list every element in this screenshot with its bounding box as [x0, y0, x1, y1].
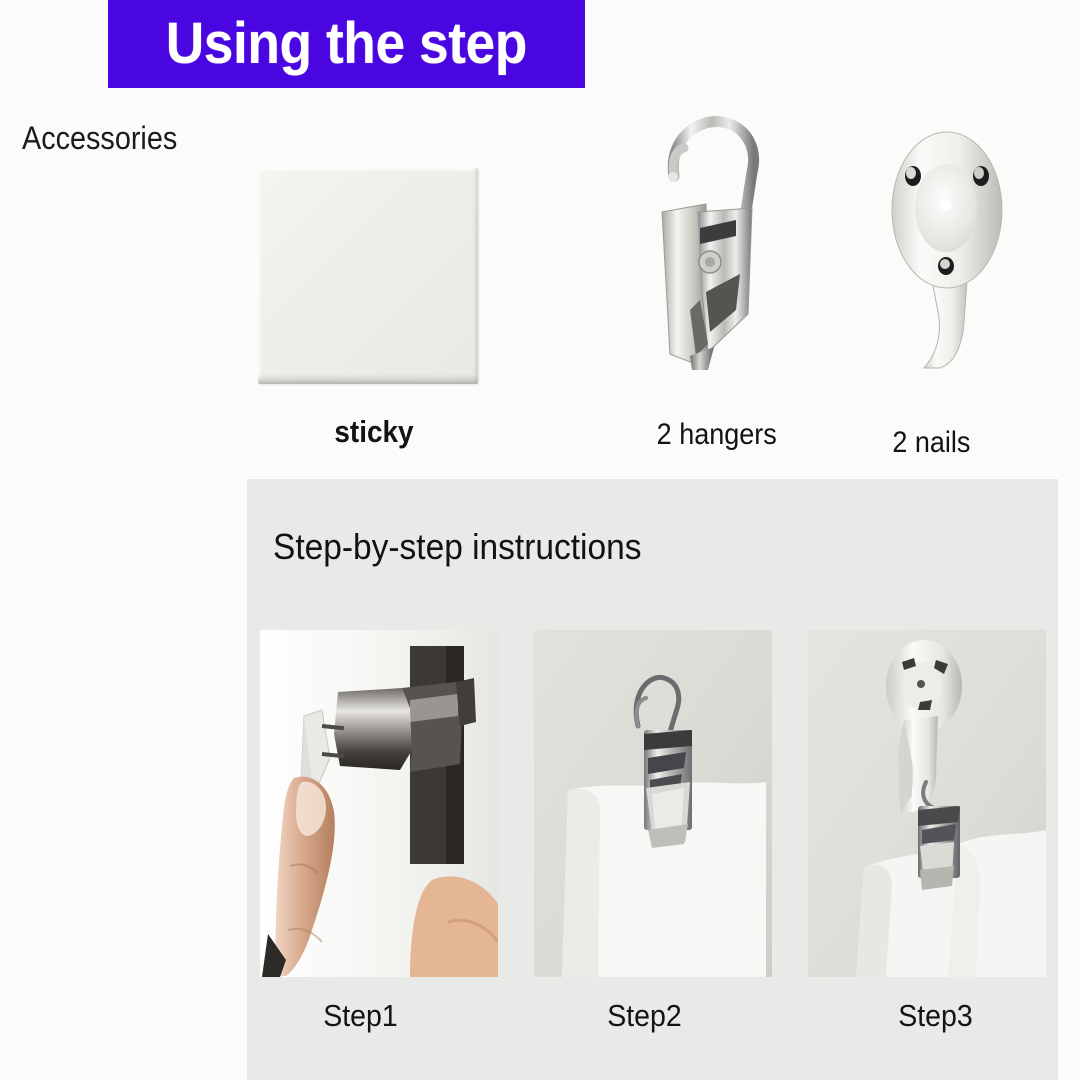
step-image-2 — [534, 630, 772, 977]
product-instruction-infographic: Using the step Accessories — [0, 0, 1080, 1080]
step-caption-3: Step3 — [898, 998, 973, 1034]
adhesive-pad-icon — [258, 168, 478, 384]
wall-hook-icon — [880, 126, 1016, 388]
step-by-step-panel: Step-by-step instructions — [247, 479, 1058, 1080]
step-image-3 — [808, 630, 1046, 977]
accessories-section-label: Accessories — [22, 120, 177, 157]
hook-clip-icon — [640, 104, 810, 386]
step-image-row — [260, 630, 1046, 977]
step-image-1 — [260, 630, 498, 977]
accessory-caption-hangers: 2 hangers — [657, 418, 777, 452]
step-caption-2: Step2 — [607, 998, 682, 1034]
accessory-caption-sticky: sticky — [334, 414, 413, 450]
page-title: Using the step — [166, 15, 527, 73]
steps-heading: Step-by-step instructions — [273, 526, 641, 568]
step-caption-1: Step1 — [323, 998, 398, 1034]
accessory-caption-nails: 2 nails — [892, 426, 970, 460]
title-banner: Using the step — [108, 0, 585, 88]
